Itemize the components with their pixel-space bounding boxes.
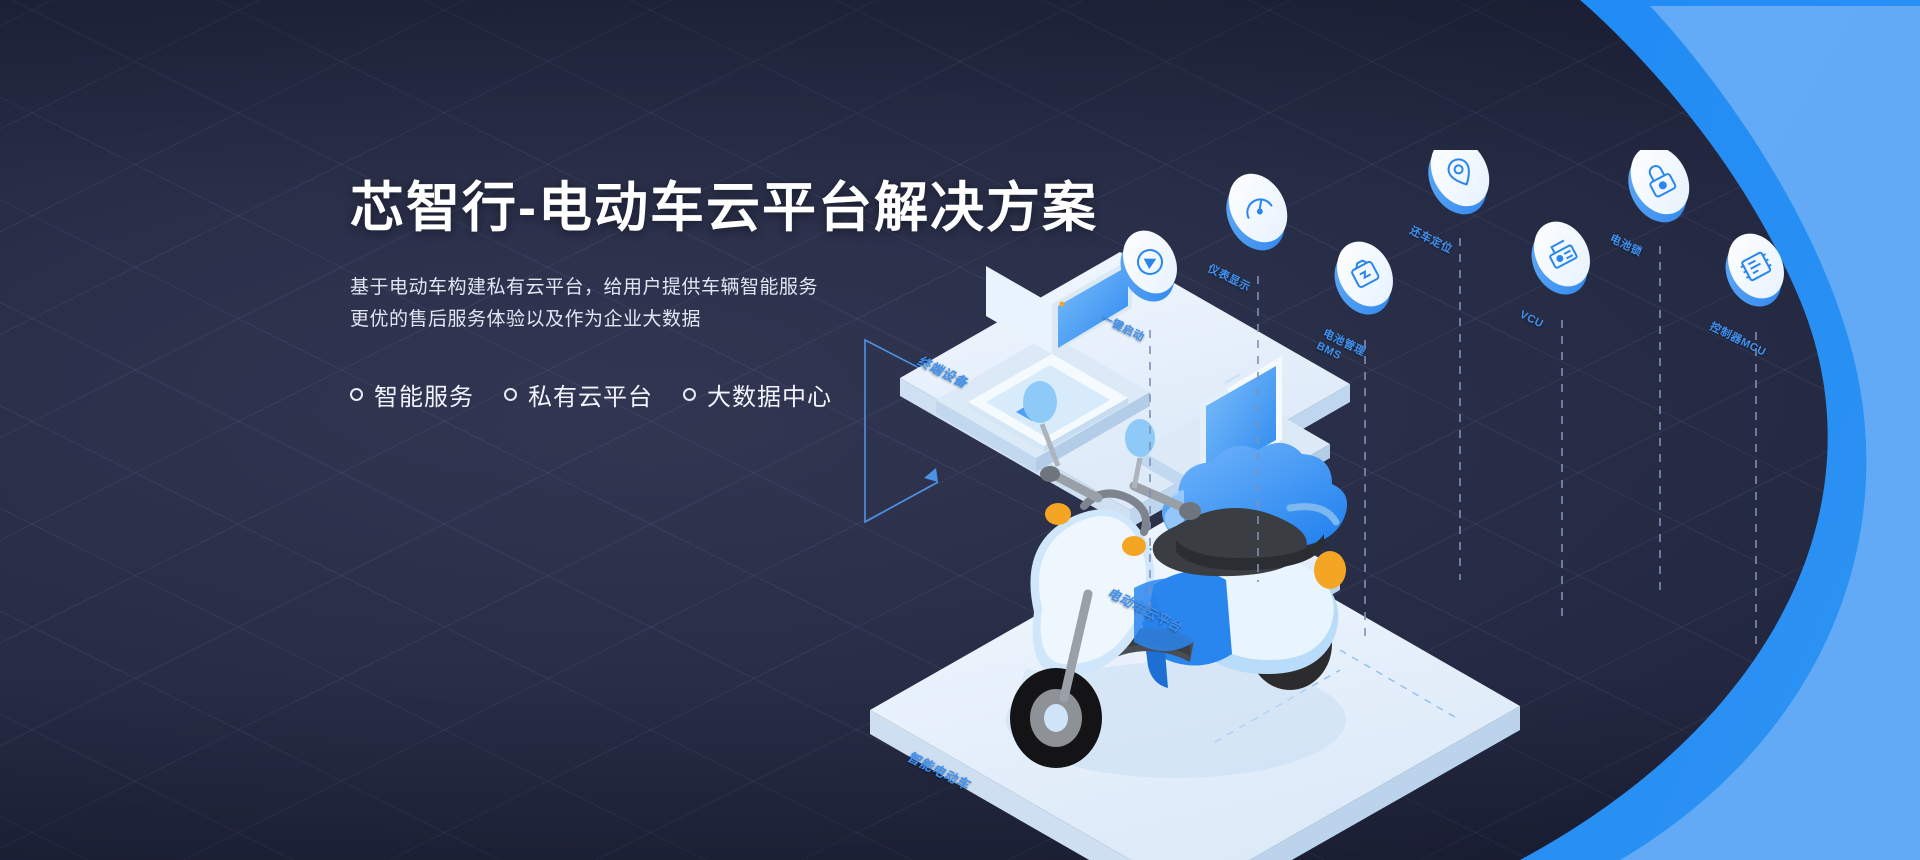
feature-label: 大数据中心: [707, 377, 832, 412]
module-coins: [1110, 150, 1795, 324]
feature-item-big-data: 大数据中心: [683, 377, 832, 412]
circle-bullet-icon: [683, 388, 696, 401]
feature-item-private-cloud: 私有云平台: [504, 377, 653, 412]
banner-root: 芯智行-电动车云平台解决方案 基于电动车构建私有云平台，给用户提供车辆智能服务 …: [0, 0, 1920, 860]
feature-label: 私有云平台: [528, 377, 653, 412]
circle-bullet-icon: [350, 388, 363, 401]
circle-bullet-icon: [504, 388, 517, 401]
feature-item-smart-service: 智能服务: [350, 377, 474, 412]
isometric-diagram: 终端设备 电动车云平台 智能电动车 一键启动 仪表显示 电池管理 BMS 还车定…: [820, 150, 1920, 860]
diagram-artwork: [820, 150, 1920, 860]
feature-label: 智能服务: [374, 377, 474, 412]
